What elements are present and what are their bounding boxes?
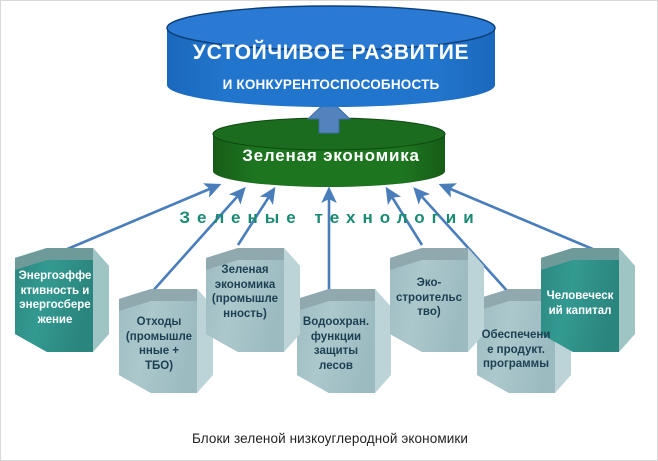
arrow-from-eco-construction xyxy=(387,189,422,245)
block-water-protection-forests[interactable] xyxy=(297,289,391,393)
block-human-capital[interactable] xyxy=(541,248,635,352)
block-green-economy-industry[interactable] xyxy=(206,248,300,352)
block-waste[interactable] xyxy=(119,289,213,393)
top-cylinder[interactable] xyxy=(167,6,495,107)
diagram-canvas: УСТОЙЧИВОЕ РАЗВИТИЕ И КОНКУРЕНТОСПОСОБНО… xyxy=(0,0,658,461)
block-eco-construction[interactable] xyxy=(390,248,484,352)
diagram-shapes xyxy=(1,1,658,461)
block-energy-efficiency[interactable] xyxy=(15,248,109,352)
arrow-from-energy-efficiency xyxy=(65,185,219,250)
arrow-from-green-economy-industry xyxy=(238,189,274,245)
connector-arrows xyxy=(65,185,595,293)
arrow-from-human-capital xyxy=(441,185,595,250)
